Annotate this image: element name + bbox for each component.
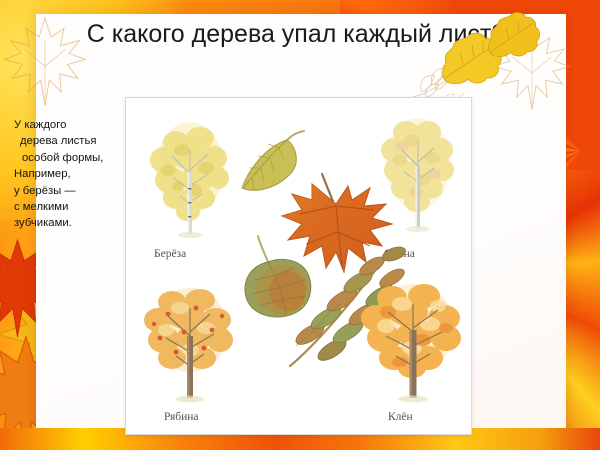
figure-aspen-tree	[372, 112, 464, 244]
caption-line-3: особой формы,	[14, 150, 136, 166]
figure-label-maple: Клён	[388, 411, 413, 423]
figure-label-rowan: Рябина	[164, 411, 199, 423]
figure-rowan-tree	[138, 280, 242, 412]
caption-line-7: зубчиками.	[14, 215, 136, 231]
caption-line-1: У каждого	[14, 117, 136, 133]
caption-text: У каждого дерева листья особой формы, На…	[14, 117, 136, 232]
caption-line-6: с мелкими	[14, 199, 136, 215]
illustration-panel: Берёза	[125, 97, 472, 435]
illustration-panel-inner: Берёза	[126, 98, 471, 434]
figure-birch-tree	[142, 116, 238, 246]
figure-label-birch: Берёза	[154, 248, 186, 260]
slide-root: С какого дерева упал каждый лист? У кажд…	[0, 0, 600, 450]
caption-line-4: Например,	[14, 166, 136, 182]
page-title: С какого дерева упал каждый лист?	[46, 18, 546, 50]
caption-line-5: у берёзы —	[14, 183, 136, 199]
figure-maple-tree	[358, 276, 468, 412]
caption-line-2: дерева листья	[14, 133, 136, 149]
